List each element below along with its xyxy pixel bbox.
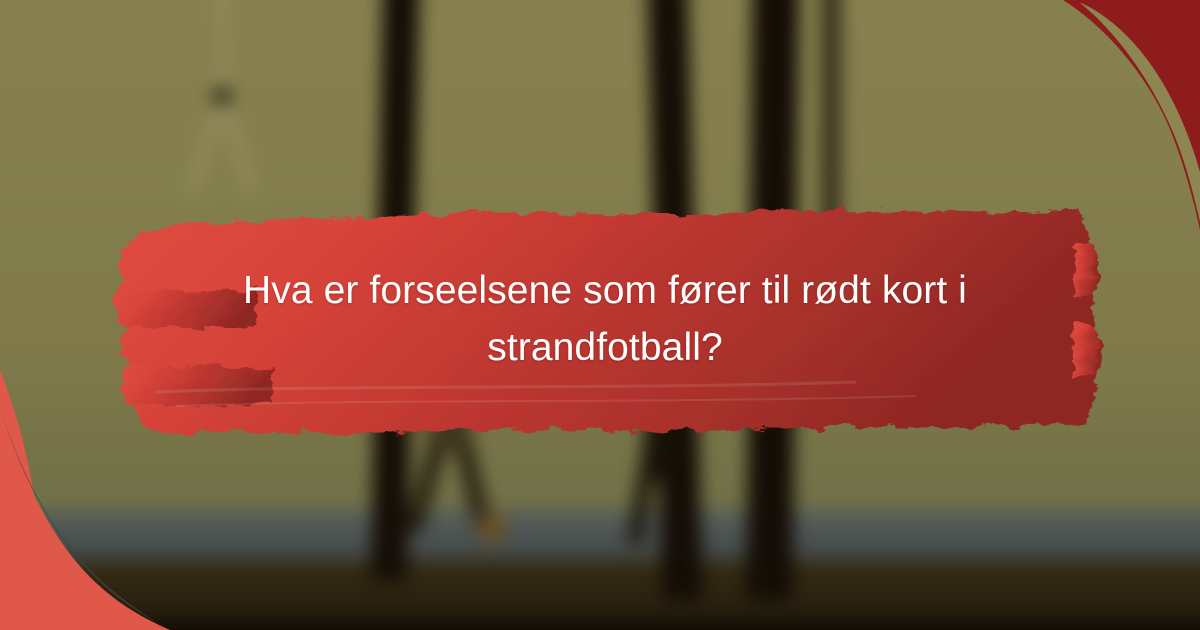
question-line-1: Hva er forseelsene som fører til rødt ko… <box>140 262 1070 319</box>
question-text: Hva er forseelsene som fører til rødt ko… <box>140 196 1070 442</box>
quote-card: Hva er forseelsene som fører til rødt ko… <box>0 0 1200 630</box>
question-line-2: strandfotball? <box>140 319 1070 376</box>
